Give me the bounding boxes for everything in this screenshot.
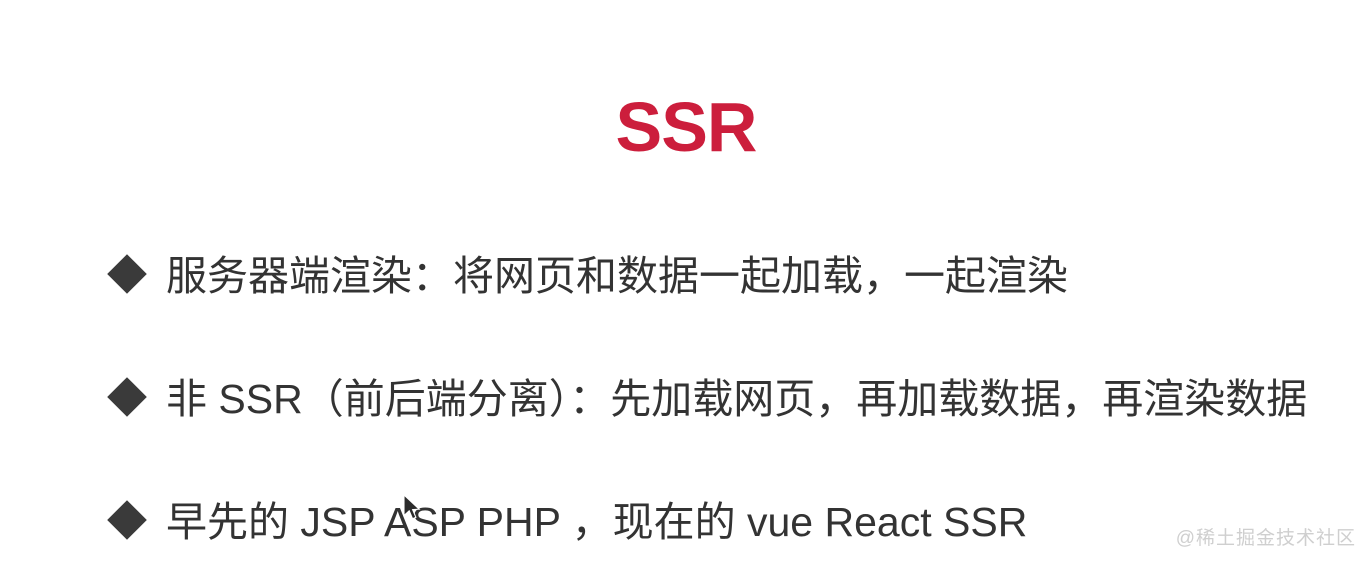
list-item: 服务器端渲染：将网页和数据一起加载，一起渲染: [113, 248, 1360, 311]
diamond-bullet-icon: [107, 377, 147, 417]
diamond-bullet-icon: [107, 500, 147, 540]
list-item-label: 服务器端渲染：将网页和数据一起加载，一起渲染: [166, 248, 1360, 304]
page-title: SSR: [0, 91, 1372, 165]
list-item: 早先的 JSP ASP PHP ，现在的 vue React SSR: [113, 494, 1360, 557]
diamond-bullet-icon: [107, 254, 147, 294]
list-item: 非 SSR（前后端分离）：先加载网页，再加载数据，再渲染数据: [113, 371, 1360, 434]
list-item-label: 非 SSR（前后端分离）：先加载网页，再加载数据，再渲染数据: [166, 371, 1360, 427]
slide-canvas: SSR 服务器端渲染：将网页和数据一起加载，一起渲染 非 SSR（前后端分离）：…: [0, 0, 1372, 564]
watermark-label: @稀土掘金技术社区: [1176, 523, 1356, 550]
bullet-list: 服务器端渲染：将网页和数据一起加载，一起渲染 非 SSR（前后端分离）：先加载网…: [113, 248, 1360, 557]
